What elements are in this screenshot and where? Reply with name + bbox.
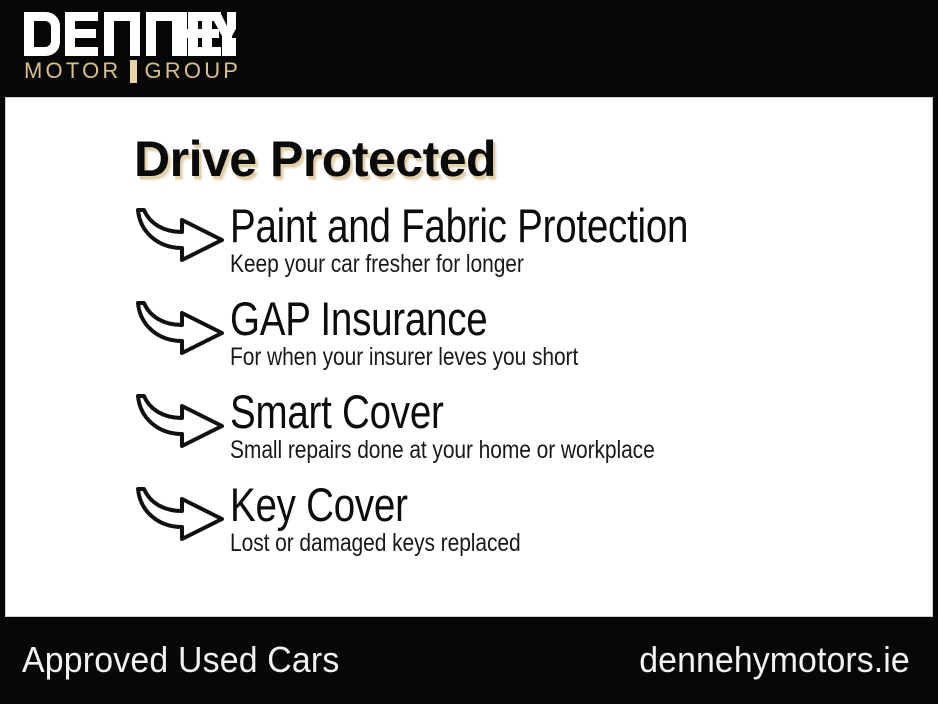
dennehy-logo[interactable]: [24, 12, 244, 56]
list-item-subtitle: For when your insurer leves you short: [230, 344, 818, 372]
list-item-title: GAP Insurance: [230, 295, 804, 343]
curved-arrow-right-icon: [134, 392, 226, 454]
list-item-title: Smart Cover: [230, 388, 804, 436]
logo-separator-bar-icon: [130, 60, 137, 83]
list-item-subtitle: Small repairs done at your home or workp…: [230, 437, 818, 465]
list-item-text: GAP Insurance For when your insurer leve…: [230, 295, 930, 371]
list-item-subtitle: Lost or damaged keys replaced: [230, 530, 818, 558]
feature-list: Paint and Fabric Protection Keep your ca…: [6, 206, 932, 578]
page-title: Drive Protected: [134, 134, 496, 184]
curved-arrow-right-icon: [134, 485, 226, 547]
header-bar: MOTOR GROUP: [0, 0, 938, 97]
list-item-subtitle: Keep your car fresher for longer: [230, 251, 818, 279]
footer-tagline: Approved Used Cars: [22, 642, 339, 678]
logo-subline-group: GROUP: [144, 60, 241, 82]
list-item: Smart Cover Small repairs done at your h…: [6, 392, 932, 485]
list-item-title: Key Cover: [230, 481, 804, 529]
logo-subline: MOTOR GROUP: [24, 59, 241, 83]
list-item-text: Key Cover Lost or damaged keys replaced: [230, 481, 930, 557]
footer-website-link[interactable]: dennehymotors.ie: [639, 642, 910, 678]
logo-subline-motor: MOTOR: [24, 60, 121, 82]
dealer-promo-banner: MOTOR GROUP Drive Protected Paint and Fa…: [0, 0, 938, 704]
dennehy-wordmark-tail-icon: [24, 12, 236, 56]
list-item-text: Paint and Fabric Protection Keep your ca…: [230, 202, 930, 278]
content-panel: Drive Protected Paint and Fabric Protect…: [5, 97, 933, 617]
list-item-title: Paint and Fabric Protection: [230, 202, 804, 250]
curved-arrow-right-icon: [134, 206, 226, 268]
curved-arrow-right-icon: [134, 299, 226, 361]
list-item: Paint and Fabric Protection Keep your ca…: [6, 206, 932, 299]
list-item: Key Cover Lost or damaged keys replaced: [6, 485, 932, 578]
list-item: GAP Insurance For when your insurer leve…: [6, 299, 932, 392]
footer-bar: Approved Used Cars dennehymotors.ie: [0, 617, 938, 704]
list-item-text: Smart Cover Small repairs done at your h…: [230, 388, 930, 464]
